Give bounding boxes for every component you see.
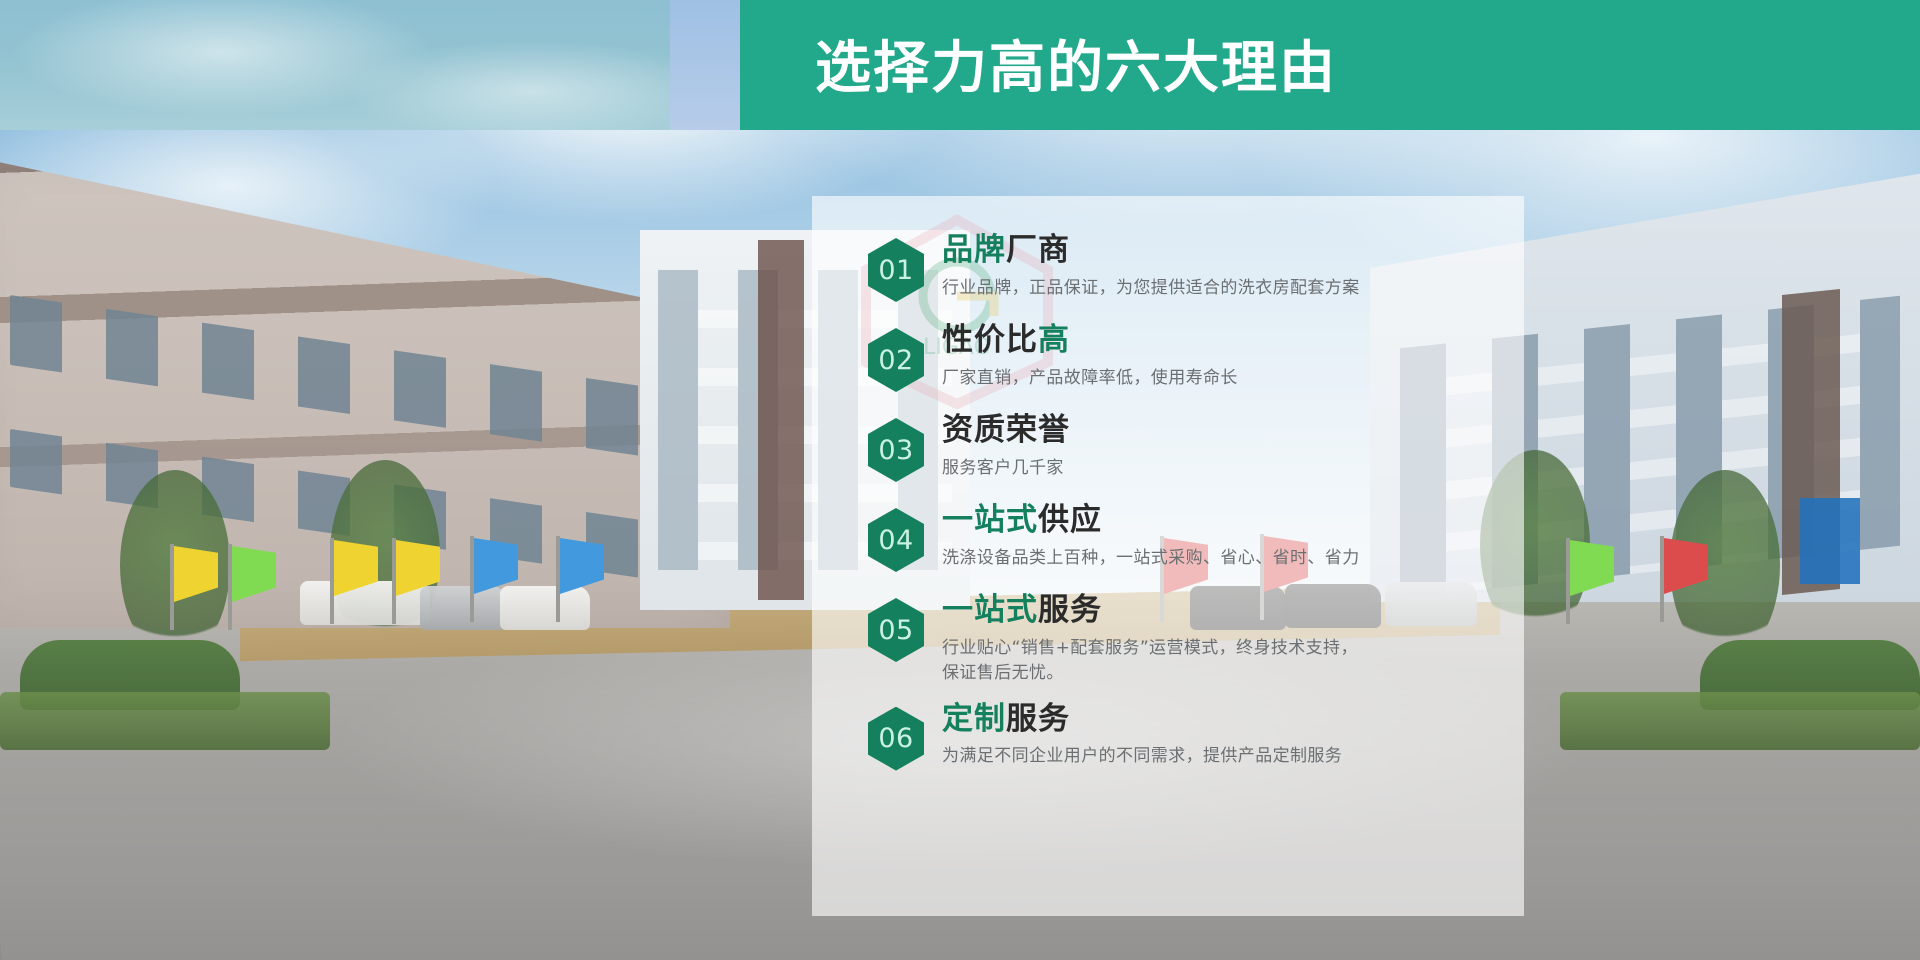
reason-desc-line1: 洗涤设备品类上百种，一站式采购、省心、省时、省力 bbox=[942, 548, 1360, 568]
reason-title-green: 高 bbox=[1038, 322, 1070, 358]
parked-car bbox=[500, 586, 590, 630]
blue-door bbox=[1800, 498, 1860, 584]
reason-title-green: 一站式 bbox=[942, 502, 1038, 538]
reasons-list: 01 品牌厂商 行业品牌，正品保证，为您提供适合的洗衣房配套方案 02 性价比高 bbox=[812, 196, 1524, 789]
hexagon-icon: 01 bbox=[868, 238, 924, 302]
reason-text-block: 品牌厂商 行业品牌，正品保证，为您提供适合的洗衣房配套方案 bbox=[942, 230, 1480, 301]
reason-title-green: 定制 bbox=[942, 701, 1006, 737]
reason-desc-line2: 保证售后无忧。 bbox=[942, 661, 1480, 687]
hexagon-badge-wrap: 04 bbox=[868, 508, 924, 572]
hexagon-badge-wrap: 05 bbox=[868, 598, 924, 662]
decorative-flag bbox=[330, 538, 334, 624]
hexagon-icon: 02 bbox=[868, 328, 924, 392]
reason-item-04[interactable]: 04 一站式供应 洗涤设备品类上百种，一站式采购、省心、省时、省力 bbox=[868, 500, 1480, 572]
reason-description: 厂家直销，产品故障率低，使用寿命长 bbox=[942, 366, 1480, 392]
decorative-flag bbox=[170, 544, 174, 630]
reason-title: 一站式服务 bbox=[942, 592, 1480, 629]
reason-item-01[interactable]: 01 品牌厂商 行业品牌，正品保证，为您提供适合的洗衣房配套方案 bbox=[868, 230, 1480, 302]
hexagon-badge-wrap: 03 bbox=[868, 418, 924, 482]
reason-description: 行业贴心“销售+配套服务”运营模式，终身技术支持， 保证售后无忧。 bbox=[942, 636, 1480, 687]
reason-title-dark: 资质荣誉 bbox=[942, 412, 1070, 448]
decorative-flag bbox=[556, 536, 560, 622]
reason-title-dark: 服务 bbox=[1038, 592, 1102, 628]
reason-item-02[interactable]: 02 性价比高 厂家直销，产品故障率低，使用寿命长 bbox=[868, 320, 1480, 392]
reason-text-block: 资质荣誉 服务客户几千家 bbox=[942, 410, 1480, 481]
hexagon-icon: 06 bbox=[868, 707, 924, 771]
reason-desc-line1: 厂家直销，产品故障率低，使用寿命长 bbox=[942, 368, 1238, 388]
reason-title-dark: 性价比 bbox=[942, 322, 1038, 358]
hexagon-icon: 04 bbox=[868, 508, 924, 572]
hexagon-badge-wrap: 06 bbox=[868, 707, 924, 771]
reason-number: 02 bbox=[878, 345, 913, 376]
reason-description: 行业品牌，正品保证，为您提供适合的洗衣房配套方案 bbox=[942, 276, 1480, 302]
reason-number: 06 bbox=[878, 723, 913, 754]
reason-text-block: 一站式供应 洗涤设备品类上百种，一站式采购、省心、省时、省力 bbox=[942, 500, 1480, 571]
reason-title-dark: 服务 bbox=[1006, 701, 1070, 737]
hexagon-badge-wrap: 02 bbox=[868, 328, 924, 392]
hedge bbox=[1560, 692, 1920, 750]
decorative-flag bbox=[1660, 536, 1664, 622]
promo-banner-page: 选择力高的六大理由 LIGAO 01 品牌厂商 行业品牌，正品保证，为您提供适合… bbox=[0, 0, 1920, 960]
reason-desc-line1: 行业品牌，正品保证，为您提供适合的洗衣房配套方案 bbox=[942, 278, 1360, 298]
reason-number: 01 bbox=[878, 255, 913, 286]
decorative-flag bbox=[228, 544, 232, 630]
hedge bbox=[0, 692, 330, 750]
reason-item-05[interactable]: 05 一站式服务 行业贴心“销售+配套服务”运营模式，终身技术支持， 保证售后无… bbox=[868, 590, 1480, 687]
reason-item-06[interactable]: 06 定制服务 为满足不同企业用户的不同需求，提供产品定制服务 bbox=[868, 699, 1480, 771]
reason-desc-line1: 服务客户几千家 bbox=[942, 458, 1064, 478]
reason-description: 为满足不同企业用户的不同需求，提供产品定制服务 bbox=[942, 744, 1480, 770]
reason-title: 品牌厂商 bbox=[942, 232, 1480, 269]
page-title: 选择力高的六大理由 bbox=[815, 23, 1337, 104]
decorative-flag bbox=[392, 538, 396, 624]
reason-title-green: 一站式 bbox=[942, 592, 1038, 628]
reason-text-block: 性价比高 厂家直销，产品故障率低，使用寿命长 bbox=[942, 320, 1480, 391]
reason-item-03[interactable]: 03 资质荣誉 服务客户几千家 bbox=[868, 410, 1480, 482]
header-green-banner: 选择力高的六大理由 bbox=[740, 0, 1920, 130]
reason-number: 05 bbox=[878, 615, 913, 646]
reason-number: 03 bbox=[878, 435, 913, 466]
reason-number: 04 bbox=[878, 525, 913, 556]
reason-text-block: 定制服务 为满足不同企业用户的不同需求，提供产品定制服务 bbox=[942, 699, 1480, 770]
center-building-stripe bbox=[758, 240, 804, 600]
parked-car bbox=[420, 586, 506, 630]
reason-desc-line1: 行业贴心“销售+配套服务”运营模式，终身技术支持， bbox=[942, 636, 1480, 662]
header-strip: 选择力高的六大理由 bbox=[0, 0, 1920, 130]
reason-title-dark: 厂商 bbox=[1006, 232, 1070, 268]
reason-title: 性价比高 bbox=[942, 322, 1480, 359]
reason-title-green: 品牌 bbox=[942, 232, 1006, 268]
reason-title: 资质荣誉 bbox=[942, 412, 1480, 449]
hexagon-icon: 03 bbox=[868, 418, 924, 482]
reasons-card: LIGAO 01 品牌厂商 行业品牌，正品保证，为您提供适合的洗衣房配套方案 bbox=[812, 196, 1524, 916]
reason-title: 定制服务 bbox=[942, 701, 1480, 738]
decorative-flag bbox=[1566, 538, 1570, 624]
decorative-flag bbox=[470, 536, 474, 622]
reason-description: 洗涤设备品类上百种，一站式采购、省心、省时、省力 bbox=[942, 546, 1480, 572]
hexagon-icon: 05 bbox=[868, 598, 924, 662]
reason-text-block: 一站式服务 行业贴心“销售+配套服务”运营模式，终身技术支持， 保证售后无忧。 bbox=[942, 590, 1480, 687]
header-sky-fill bbox=[0, 0, 740, 130]
reason-title: 一站式供应 bbox=[942, 502, 1480, 539]
reason-desc-line1: 为满足不同企业用户的不同需求，提供产品定制服务 bbox=[942, 746, 1342, 766]
hexagon-badge-wrap: 01 bbox=[868, 238, 924, 302]
reason-title-dark: 供应 bbox=[1038, 502, 1102, 538]
reason-description: 服务客户几千家 bbox=[942, 456, 1480, 482]
